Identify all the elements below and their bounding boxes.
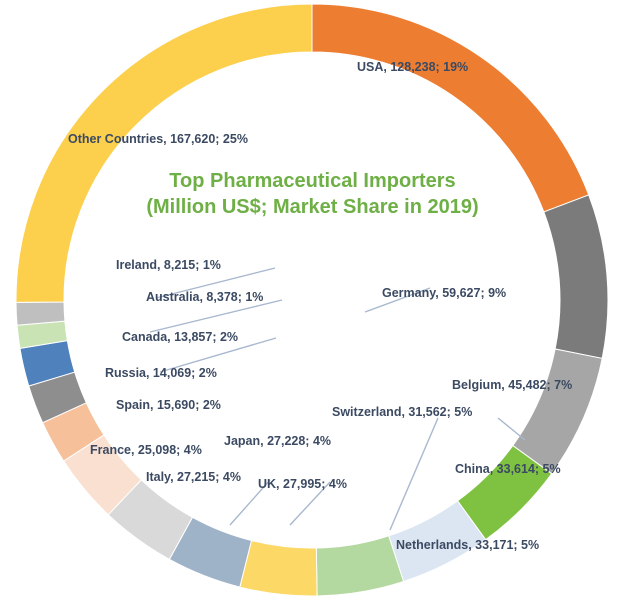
leader-line-5 [390, 418, 438, 530]
chart-canvas: Top Pharmaceutical Importers (Million US… [0, 0, 625, 600]
leader-line-4 [498, 418, 525, 440]
slice-label-netherlands: Netherlands, 33,171; 5% [396, 538, 539, 552]
slice-label-usa: USA, 128,238; 19% [357, 60, 468, 74]
slice-label-france: France, 25,098; 4% [90, 443, 202, 457]
slice-label-australia: Australia, 8,378; 1% [146, 290, 263, 304]
slice-label-spain: Spain, 15,690; 2% [116, 398, 221, 412]
slice-label-other-countries: Other Countries, 167,620; 25% [68, 132, 248, 146]
slice-label-italy: Italy, 27,215; 4% [146, 470, 241, 484]
donut-chart [0, 0, 625, 600]
donut-slice-switzerland[interactable] [316, 536, 403, 596]
slice-label-uk: UK, 27,995; 4% [258, 477, 347, 491]
slice-label-switzerland: Switzerland, 31,562; 5% [332, 405, 472, 419]
donut-slice-group [16, 4, 608, 596]
donut-slice-uk[interactable] [240, 541, 317, 596]
leader-line-1 [150, 300, 282, 332]
slice-label-germany: Germany, 59,627; 9% [382, 286, 506, 300]
slice-label-japan: Japan, 27,228; 4% [224, 434, 331, 448]
donut-slice-usa[interactable] [312, 4, 589, 212]
slice-label-russia: Russia, 14,069; 2% [105, 366, 217, 380]
slice-label-ireland: Ireland, 8,215; 1% [116, 258, 221, 272]
slice-label-belgium: Belgium, 45,482; 7% [452, 378, 572, 392]
slice-label-canada: Canada, 13,857; 2% [122, 330, 238, 344]
donut-slice-germany[interactable] [544, 195, 608, 359]
donut-slice-ireland[interactable] [16, 302, 65, 325]
slice-label-china: China, 33,614; 5% [455, 462, 561, 476]
